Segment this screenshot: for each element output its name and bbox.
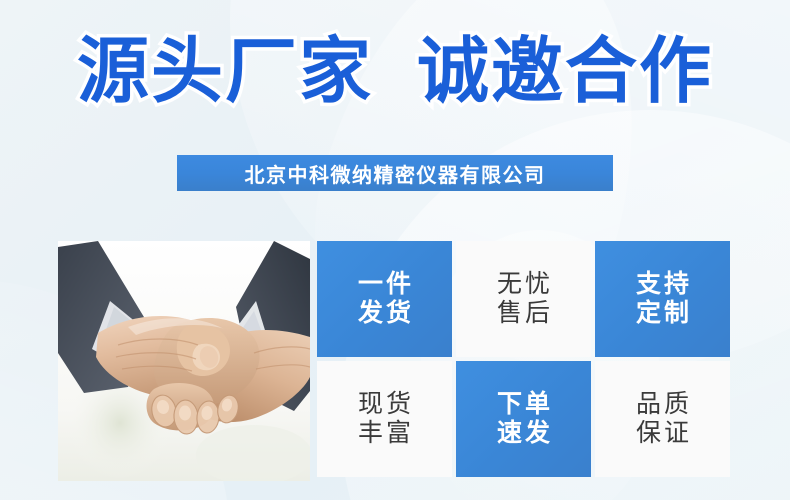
feature-cell-2-line2: 售后 xyxy=(494,299,553,329)
company-name-label: 北京中科微纳精密仪器有限公司 xyxy=(245,159,546,188)
feature-cell-3-line1: 支持 xyxy=(633,270,692,300)
feature-cell-1[interactable]: 一件 发货 xyxy=(317,241,452,357)
feature-cell-4[interactable]: 现货 丰富 xyxy=(317,361,452,477)
feature-cell-5-line1: 下单 xyxy=(494,390,553,420)
feature-cell-3[interactable]: 支持 定制 xyxy=(595,241,730,357)
feature-cell-6-line1: 品质 xyxy=(633,390,692,420)
feature-cell-5-line2: 速发 xyxy=(494,419,553,449)
promo-banner: 源头厂家 诚邀合作 北京中科微纳精密仪器有限公司 xyxy=(0,0,790,500)
feature-cell-6[interactable]: 品质 保证 xyxy=(595,361,730,477)
feature-cell-1-line1: 一件 xyxy=(355,270,414,300)
feature-cell-1-line2: 发货 xyxy=(355,299,414,329)
headline-text: 源头厂家 诚邀合作 xyxy=(0,36,790,108)
company-name-bar: 北京中科微纳精密仪器有限公司 xyxy=(177,155,613,191)
feature-cell-3-line2: 定制 xyxy=(633,299,692,329)
handshake-photo xyxy=(58,241,310,481)
feature-cell-4-line2: 丰富 xyxy=(355,419,414,449)
feature-cell-6-line2: 保证 xyxy=(633,419,692,449)
feature-cell-2-line1: 无忧 xyxy=(494,270,553,300)
feature-cell-4-line1: 现货 xyxy=(355,390,414,420)
feature-grid: 一件 发货 无忧 售后 支持 定制 现货 丰富 下单 速发 品质 保证 xyxy=(317,241,731,481)
feature-cell-5[interactable]: 下单 速发 xyxy=(456,361,591,477)
handshake-illustration xyxy=(58,241,310,481)
feature-cell-2[interactable]: 无忧 售后 xyxy=(456,241,591,357)
